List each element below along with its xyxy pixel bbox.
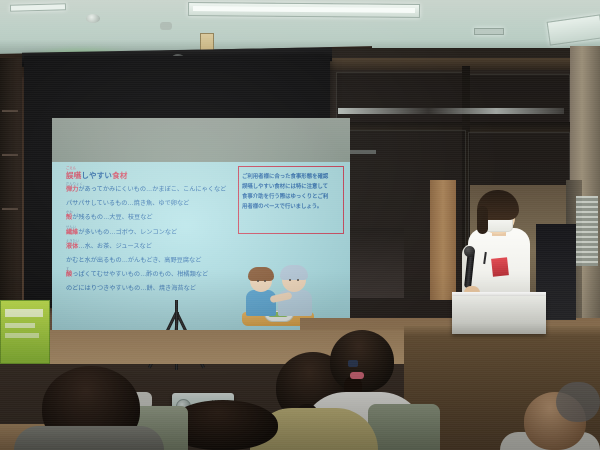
- line-keyword: のどにはりつきやすいもの: [66, 285, 140, 292]
- name-badge: [491, 257, 509, 277]
- green-wall-poster: [0, 300, 50, 364]
- ceiling-speaker-icon: [160, 22, 172, 30]
- presenter-hair-side: [477, 206, 488, 234]
- elderly-hair: [280, 265, 308, 280]
- ceiling-light-icon: [188, 2, 420, 18]
- slide-title-keyword: 誤嚥: [66, 171, 81, 180]
- presenter-podium: [452, 296, 546, 334]
- chair-back: [368, 404, 440, 450]
- hair-clip-icon: [348, 360, 358, 367]
- ceiling-light-icon: [474, 28, 504, 35]
- audience-shoulders: [14, 426, 164, 450]
- slide-line: えきたい 液体…水、お茶、ジュースなど: [66, 243, 236, 251]
- left-cabinet: [0, 58, 22, 308]
- far-room-curtain: [430, 180, 456, 300]
- poster-text-block: [5, 333, 39, 338]
- slide-title-middle: しやすい: [81, 171, 112, 180]
- callout-line: 誤嚥しやすい食材には特に注意して: [242, 184, 343, 191]
- poster-text-block: [5, 323, 35, 328]
- slide-callout-box: ご利用者様に合った食事形態を確認 誤嚥しやすい食材には特に注意して 食事介助を行…: [238, 166, 344, 234]
- eye-icon: [289, 279, 291, 281]
- glass-pane: [468, 74, 570, 126]
- line-ruby: す: [66, 266, 69, 274]
- slide-title-keyword2: 食材: [112, 171, 127, 180]
- screen-unlit-area: [52, 118, 350, 162]
- caregiver-hair: [248, 267, 274, 281]
- line-rest: が多いもの…ゴボウ、レンコンなど: [78, 229, 177, 236]
- window-frame-top: [330, 58, 575, 70]
- line-keyword: かむと水が出るもの: [66, 257, 122, 264]
- line-keyword: パサパサ: [66, 200, 91, 207]
- line-rest: っぱくてむせやすいもの…酢のもの、柑橘類など: [72, 271, 208, 278]
- slide-line: かわ 殻が残るもの…大豆、枝豆など: [66, 214, 236, 222]
- slide-bullet-list: だんりょく 弾力があってかみにくいもの…かまぼこ、こんにゃくなど パサパサしてい…: [66, 186, 236, 300]
- smoke-detector-icon: [86, 14, 100, 23]
- line-ruby: だんりょく: [66, 181, 83, 189]
- eye-icon: [264, 280, 266, 282]
- window-blinds-icon: [576, 196, 598, 266]
- slide-line: せんい 繊維が多いもの…ゴボウ、レンコンなど: [66, 229, 236, 237]
- line-rest: が残るもの…大豆、枝豆など: [72, 214, 152, 221]
- line-rest: …がんもどき、高野豆腐など: [122, 257, 202, 264]
- slide-line: かむと水が出るもの…がんもどき、高野豆腐など: [66, 257, 236, 265]
- line-rest: があってかみにくいもの…かまぼこ、こんにゃくなど: [78, 186, 226, 193]
- eye-icon: [297, 279, 299, 281]
- callout-line: 用者様のペースで行いましょう。: [242, 204, 343, 211]
- screenshot-root: ごえん 誤嚥しやすい食材 だんりょく 弾力があってかみにくいもの…かまぼこ、こん…: [0, 0, 600, 450]
- stacked-equipment: [348, 228, 404, 298]
- line-ruby: かわ: [66, 209, 73, 217]
- line-rest: …水、お茶、ジュースなど: [78, 243, 152, 250]
- audience-head: [330, 330, 394, 392]
- ceiling-light-icon: [10, 3, 66, 11]
- line-rest: …餅、焼き海苔など: [140, 285, 196, 292]
- line-ruby: せんい: [66, 224, 76, 232]
- line-ruby: えきたい: [66, 238, 79, 246]
- microphone-head-icon: [464, 246, 475, 257]
- caregiver-body: [246, 290, 276, 316]
- glass-pane: [336, 72, 466, 124]
- callout-line: ご利用者様に合った食事形態を確認: [242, 174, 343, 181]
- callout-line: 食事介助を行う際はゆっくりとご利: [242, 194, 343, 201]
- projection-screen-frame: ごえん 誤嚥しやすい食材 だんりょく 弾力があってかみにくいもの…かまぼこ、こん…: [24, 56, 330, 308]
- slide-line: だんりょく 弾力があってかみにくいもの…かまぼこ、こんにゃくなど: [66, 186, 236, 194]
- glass-reflection: [338, 108, 564, 114]
- slide-line: す 酸っぱくてむせやすいもの…酢のもの、柑橘類など: [66, 271, 236, 279]
- eye-icon: [257, 280, 259, 282]
- poster-text-block: [5, 309, 43, 317]
- audience-hair: [556, 382, 600, 422]
- caregiver-feeding-elderly-illustration: [238, 264, 318, 326]
- slide-title-ruby: ごえん: [66, 165, 76, 170]
- hair-tie-icon: [350, 372, 364, 379]
- slide-line: のどにはりつきやすいもの…餅、焼き海苔など: [66, 285, 236, 293]
- slide-line: パサパサしているもの…焼き魚、ゆで卵など: [66, 200, 236, 208]
- line-rest: しているもの…焼き魚、ゆで卵など: [91, 200, 190, 207]
- slide-title: ごえん 誤嚥しやすい食材: [66, 170, 128, 181]
